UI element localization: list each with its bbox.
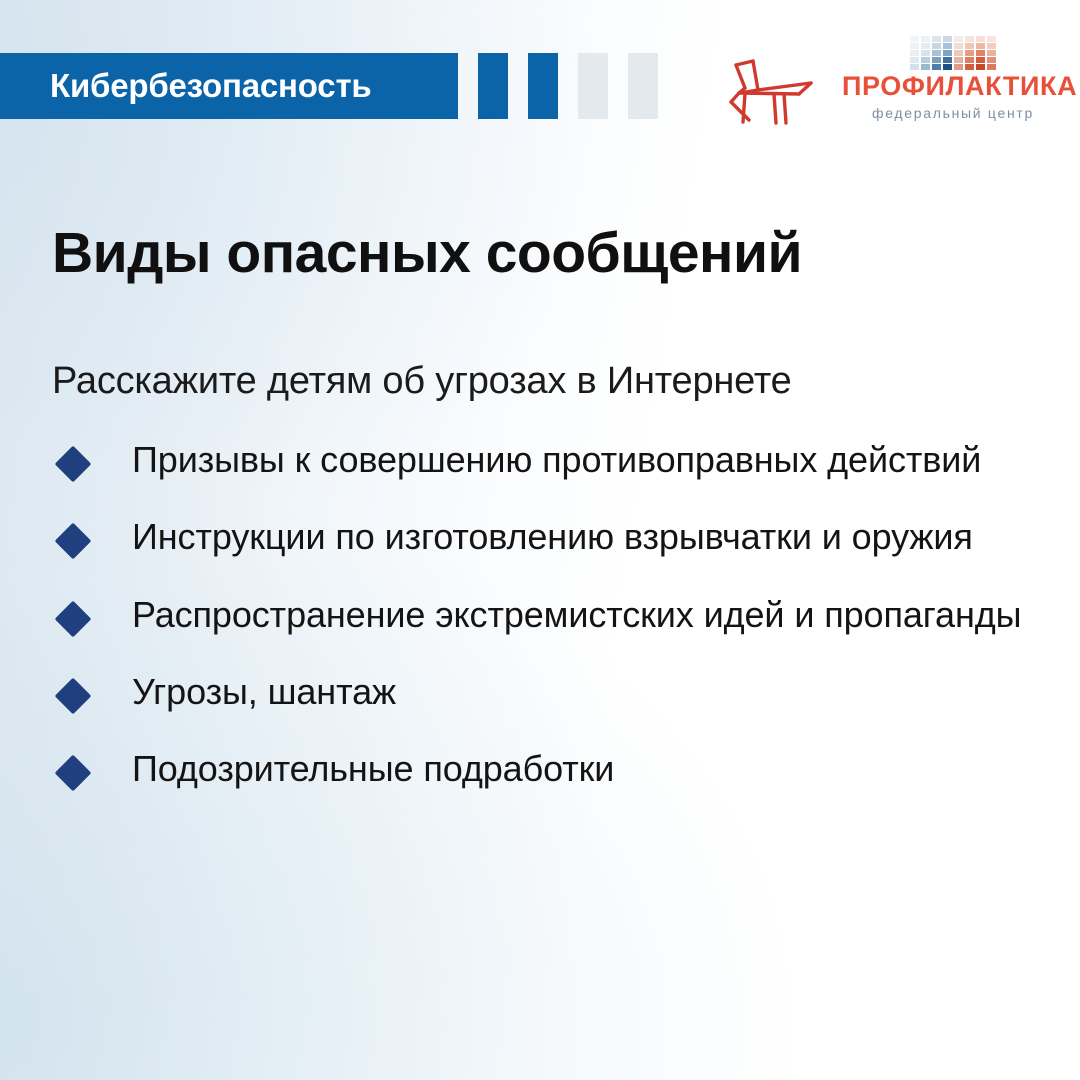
brand-lockup: ПРОФИЛАКТИКА федеральный центр	[842, 36, 1064, 121]
page-title: Виды опасных сообщений	[52, 224, 802, 284]
list-item-label: Инструкции по изготовлению взрывчатки и …	[132, 514, 973, 559]
brand-name: ПРОФИЛАКТИКА	[842, 73, 1064, 100]
pixel-grid-icon	[910, 36, 996, 70]
diamond-bullet-icon	[55, 755, 92, 792]
poster-canvas: Кибербезопасность	[0, 0, 1080, 1080]
logo-zone: ПРОФИЛАКТИКА федеральный центр	[720, 36, 1065, 131]
decor-block-grey-1	[578, 53, 608, 119]
red-dog-line-drawing-icon	[725, 50, 825, 128]
list-item: Угрозы, шантаж	[52, 669, 1042, 714]
brand-subtitle: федеральный центр	[842, 105, 1064, 121]
diamond-bullet-icon	[55, 678, 92, 715]
decor-block-blue-1	[478, 53, 508, 119]
list-item: Инструкции по изготовлению взрывчатки и …	[52, 514, 1042, 559]
diamond-bullet-icon	[55, 600, 92, 637]
list-item-label: Призывы к совершению противоправных дейс…	[132, 437, 981, 482]
page-subtitle: Расскажите детям об угрозах в Интернете	[52, 360, 792, 403]
diamond-bullet-icon	[55, 523, 92, 560]
category-label: Кибербезопасность	[0, 67, 372, 105]
decorative-block-strip	[478, 53, 658, 119]
list-item-label: Распространение экстремистских идей и пр…	[132, 592, 1021, 637]
decor-block-blue-2	[528, 53, 558, 119]
list-item: Распространение экстремистских идей и пр…	[52, 592, 1042, 637]
danger-types-list: Призывы к совершению противоправных дейс…	[52, 437, 1042, 792]
list-item: Призывы к совершению противоправных дейс…	[52, 437, 1042, 482]
decor-block-grey-2	[628, 53, 658, 119]
category-banner: Кибербезопасность	[0, 53, 458, 119]
list-item-label: Угрозы, шантаж	[132, 669, 396, 714]
list-item: Подозрительные подработки	[52, 746, 1042, 791]
diamond-bullet-icon	[55, 446, 92, 483]
list-item-label: Подозрительные подработки	[132, 746, 614, 791]
